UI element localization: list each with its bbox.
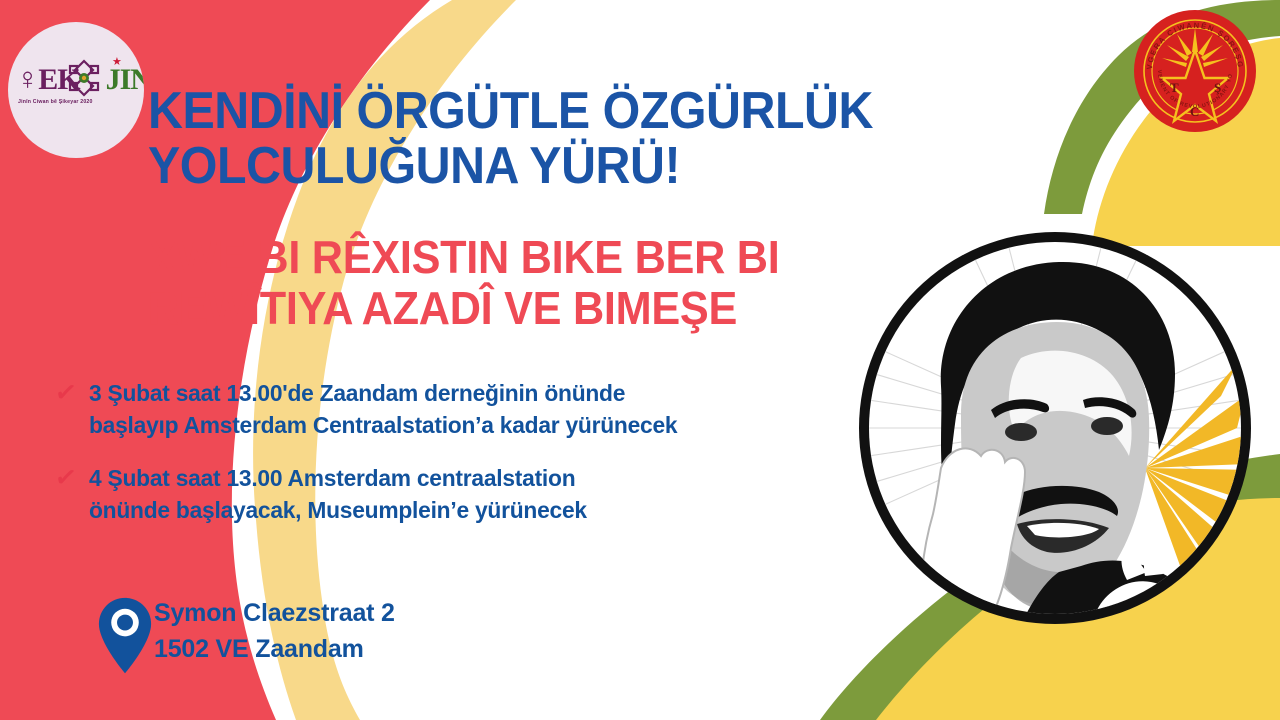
subhead-line-2: REWÎTIYA AZADÎ VE BIMEŞE [148,283,900,334]
location-pin-icon [96,595,154,676]
address-text: Symon Claezstraat 2 1502 VE Zaandam [154,595,395,668]
list-item-text: 3 Şubat saat 13.00'de Zaandam derneğinin… [89,378,677,441]
list-item: ✓ 3 Şubat saat 13.00'de Zaandam derneğin… [55,378,865,441]
poster-canvas: ♀EKJIN ★ Jinîn Ciwan bê Şikeyar 2020 [0,0,1280,720]
venus-icon: ♀ [16,61,38,96]
venue-address: Symon Claezstraat 2 1502 VE Zaandam [96,595,395,676]
kurdish-headline: XWE BI RÊXISTIN BIKE BER BI REWÎTIYA AZA… [148,232,948,333]
logo-star-icon: ★ [112,57,122,68]
portrait-eye-left [1005,423,1037,441]
kurdish-motif-icon [67,59,101,97]
check-icon: ✓ [53,376,91,410]
tekojin-logo: ♀EKJIN ★ Jinîn Ciwan bê Şikeyar 2020 [8,22,144,158]
list-item: ✓ 4 Şubat saat 13.00 Amsterdam centraals… [55,463,865,526]
subhead-line-1: XWE BI RÊXISTIN BIKE BER BI [148,232,900,283]
list-item-text: 4 Şubat saat 13.00 Amsterdam centraalsta… [89,463,587,526]
list-item-line: önünde başlayacak, Museumplein’e yürünec… [89,495,587,527]
emblem-letter-t: T [1170,80,1179,95]
event-list: ✓ 3 Şubat saat 13.00'de Zaandam derneğin… [55,378,865,549]
logo-tagline: Jinîn Ciwan bê Şikeyar 2020 [18,99,93,105]
headline-line-2: YOLCULUĞUNA YÜRÜ! [148,139,920,194]
tcs-emblem: T Ş C TEVGERA CIWANÊN ŞOREŞGER MOVEMENT … [1132,8,1258,134]
portrait-eye-right [1091,417,1123,435]
address-line: 1502 VE Zaandam [154,631,395,667]
list-item-line: 4 Şubat saat 13.00 Amsterdam centraalsta… [89,463,587,495]
list-item-line: 3 Şubat saat 13.00'de Zaandam derneğinin… [89,378,677,410]
list-item-line: başlayıp Amsterdam Centraalstation’a kad… [89,410,677,442]
check-icon: ✓ [53,461,91,495]
main-headline: KENDİNİ ÖRGÜTLE ÖZGÜRLÜK YOLCULUĞUNA YÜR… [148,84,978,194]
address-line: Symon Claezstraat 2 [154,595,395,631]
headline-line-1: KENDİNİ ÖRGÜTLE ÖZGÜRLÜK [148,84,920,139]
